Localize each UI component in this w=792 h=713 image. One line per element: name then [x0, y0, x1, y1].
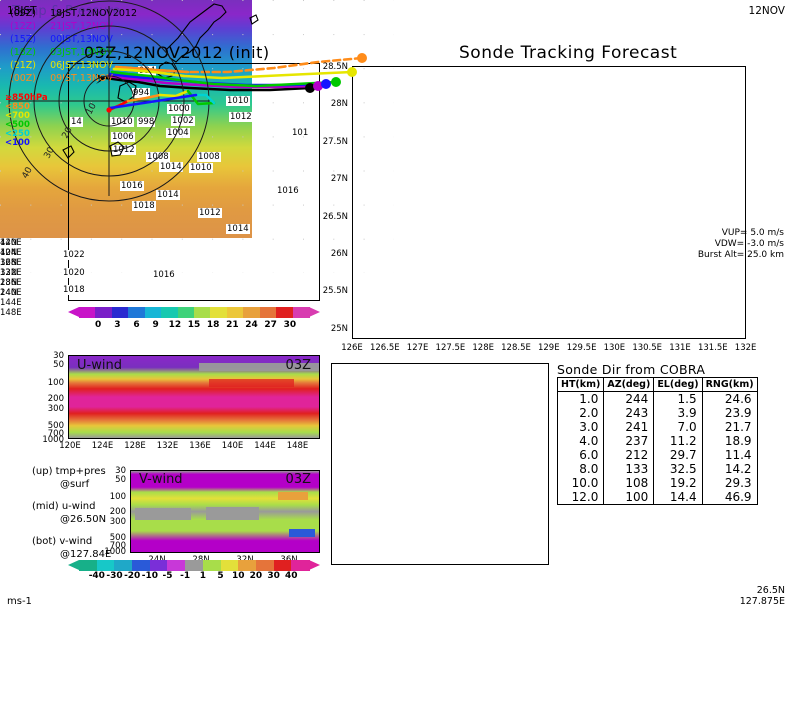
colorbar-tick: 30: [282, 320, 298, 330]
endpoint-00z: [357, 53, 367, 63]
hodo-lon: 127.875E: [740, 596, 785, 607]
colorbar-segment: [178, 307, 195, 318]
uwind-xtick: 120E: [59, 441, 81, 451]
colorbar-tick: 40: [283, 571, 299, 581]
table-row: 12.010014.446.9: [558, 490, 758, 505]
uwind-xtick: 144E: [254, 441, 276, 451]
tracking-ytick: 27N: [312, 174, 348, 184]
uwind-label: U-wind: [77, 358, 122, 373]
cell-rng: 11.4: [702, 448, 757, 462]
colorbar-segment: [276, 307, 293, 318]
cell-rng: 29.3: [702, 476, 757, 490]
colorbar-arrow-right: [309, 560, 320, 570]
xtick: 148E: [0, 308, 22, 318]
tracking-xtick: 131E: [669, 343, 691, 353]
col-az: AZ(deg): [604, 378, 654, 392]
cell-az: 237: [604, 434, 654, 448]
tracking-xtick: 126.5E: [370, 343, 400, 353]
note-bot-tag: (bot) v-wind: [32, 536, 92, 547]
cell-ht: 12.0: [558, 490, 604, 505]
colorbar-segment: [243, 307, 260, 318]
hodo-lat: 26.5N: [757, 585, 785, 596]
table-row: 4.023711.218.9: [558, 434, 758, 448]
xtick: 144E: [0, 298, 22, 308]
endpoint-21z: [347, 67, 357, 77]
cell-el: 7.0: [654, 420, 702, 434]
vwind-label: V-wind: [139, 472, 183, 487]
uwind-xtick: 132E: [157, 441, 179, 451]
colorbar-segment: [194, 307, 211, 318]
colorbar-segment: [260, 307, 277, 318]
hodo-time-label: 18JST: [7, 5, 37, 17]
cell-el: 29.7: [654, 448, 702, 462]
col-el: EL(deg): [654, 378, 702, 392]
colorbar-segment: [79, 307, 96, 318]
colorbar-tick: 27: [263, 320, 279, 330]
colorbar-segment: [221, 560, 239, 571]
cell-ht: 8.0: [558, 462, 604, 476]
tracking-frame: [352, 66, 746, 339]
tracking-ytick: 28.5N: [312, 62, 348, 72]
colorbar-segment: [97, 560, 115, 571]
tracking-ytick: 25.5N: [312, 286, 348, 296]
sonde-table: HT(km) AZ(deg) EL(deg) RNG(km) 1.02441.5…: [557, 377, 758, 505]
colorbar-tick: 1: [195, 571, 211, 581]
colorbar-tick: 12: [167, 320, 183, 330]
uwind-xtick: 136E: [189, 441, 211, 451]
uwind-ytick: 200: [36, 394, 64, 404]
table-row: 2.02433.923.9: [558, 406, 758, 420]
uwind-xtick: 140E: [222, 441, 244, 451]
colorbar-segment: [227, 307, 244, 318]
uwind-ytick: 50: [36, 360, 64, 370]
colorbar-segment: [293, 307, 310, 318]
note-up-sub: @surf: [60, 479, 89, 490]
note-burst-alt: Burst Alt= 25.0 km: [624, 250, 784, 260]
cell-ht: 6.0: [558, 448, 604, 462]
colorbar-segment: [210, 307, 227, 318]
cell-az: 133: [604, 462, 654, 476]
tracking-xtick: 131.5E: [698, 343, 728, 353]
colorbar-tick: 24: [244, 320, 260, 330]
colorbar-segment: [274, 560, 292, 571]
cell-el: 1.5: [654, 392, 702, 407]
cell-rng: 18.9: [702, 434, 757, 448]
hodograph-frame: [331, 363, 549, 565]
colorbar-segment: [185, 560, 203, 571]
table-header-row: HT(km) AZ(deg) EL(deg) RNG(km): [558, 378, 758, 392]
uwind-time: 03Z: [286, 358, 311, 373]
colorbar-segment: [145, 307, 162, 318]
colorbar-tick: 3: [109, 320, 125, 330]
tracking-xtick: 128.5E: [501, 343, 531, 353]
uwind-xtick: 148E: [287, 441, 309, 451]
tracking-ytick: 27.5N: [312, 137, 348, 147]
colorbar-segment: [167, 560, 185, 571]
colorbar-tick: 6: [129, 320, 145, 330]
cell-ht: 1.0: [558, 392, 604, 407]
cell-el: 19.2: [654, 476, 702, 490]
note-mid-sub: @26.50N: [60, 514, 106, 525]
colorbar-tick: -40: [89, 571, 105, 581]
cell-az: 108: [604, 476, 654, 490]
cell-rng: 23.9: [702, 406, 757, 420]
tracking-xtick: 132E: [735, 343, 757, 353]
cell-el: 32.5: [654, 462, 702, 476]
cell-ht: 2.0: [558, 406, 604, 420]
note-vup: VUP= 5.0 m/s: [624, 228, 784, 238]
colorbar-segment: [203, 560, 221, 571]
temperature-colorbar-ticks: 036912151821242730: [68, 320, 320, 332]
vwind-grey-patch-mid: [206, 507, 259, 520]
cell-rng: 24.6: [702, 392, 757, 407]
hodo-origin-dot: [106, 107, 111, 112]
table-row: 6.021229.711.4: [558, 448, 758, 462]
tracking-xtick: 127.5E: [436, 343, 466, 353]
vwind-time: 03Z: [286, 472, 311, 487]
tracking-xtick: 130E: [604, 343, 626, 353]
colorbar-segment: [79, 560, 97, 571]
table-row: 8.013332.514.2: [558, 462, 758, 476]
note-up-tag: (up) tmp+pres: [32, 466, 106, 477]
cell-az: 241: [604, 420, 654, 434]
colorbar-segment: [114, 560, 132, 571]
cell-rng: 46.9: [702, 490, 757, 505]
tracking-ytick: 28N: [312, 99, 348, 109]
wind-colorbar: [68, 560, 320, 571]
uwind-red-patch: [209, 379, 294, 387]
colorbar-segment: [291, 560, 309, 571]
colorbar-tick: 30: [266, 571, 282, 581]
hodo-units: ms-1: [7, 596, 32, 607]
colorbar-segment: [132, 560, 150, 571]
tracking-xtick: 128E: [472, 343, 494, 353]
colorbar-segment: [150, 560, 168, 571]
vwind-blue-patch: [289, 529, 315, 537]
isobar-label: 1018: [62, 285, 86, 295]
colorbar-tick: -10: [142, 571, 158, 581]
cell-ht: 10.0: [558, 476, 604, 490]
cell-ht: 4.0: [558, 434, 604, 448]
colorbar-tick: -5: [159, 571, 175, 581]
uwind-xtick: 128E: [124, 441, 146, 451]
colorbar-tick: 15: [186, 320, 202, 330]
colorbar-tick: 0: [90, 320, 106, 330]
colorbar-tick: 5: [213, 571, 229, 581]
cell-az: 244: [604, 392, 654, 407]
tracking-xtick: 126E: [341, 343, 363, 353]
colorbar-tick: 20: [248, 571, 264, 581]
cell-el: 11.2: [654, 434, 702, 448]
xtick: 136E: [0, 278, 22, 288]
tracking-xtick: 130.5E: [632, 343, 662, 353]
col-rng: RNG(km): [702, 378, 757, 392]
note-vdw: VDW= -3.0 m/s: [624, 239, 784, 249]
uwind-plot: U-wind 03Z: [69, 356, 319, 438]
cell-el: 14.4: [654, 490, 702, 505]
cell-az: 100: [604, 490, 654, 505]
cell-rng: 21.7: [702, 420, 757, 434]
xtick: 140E: [0, 288, 22, 298]
colorbar-segment: [112, 307, 129, 318]
colorbar-segment: [95, 307, 112, 318]
tracking-ytick: 25N: [312, 324, 348, 334]
table-row: 10.010819.229.3: [558, 476, 758, 490]
tracking-xtick: 127E: [407, 343, 429, 353]
table-row: 1.02441.524.6: [558, 392, 758, 407]
uwind-xtick: 124E: [92, 441, 114, 451]
tracking-xtick: 129E: [538, 343, 560, 353]
note-mid-tag: (mid) u-wind: [32, 501, 95, 512]
colorbar-segment: [128, 307, 145, 318]
tracking-ytick: 26N: [312, 249, 348, 259]
colorbar-tick: -20: [124, 571, 140, 581]
vwind-orange-patch: [278, 492, 308, 500]
sonde-table-title: Sonde Dir from COBRA: [557, 362, 705, 377]
colorbar-segment: [256, 560, 274, 571]
colorbar-tick: 10: [230, 571, 246, 581]
cell-ht: 3.0: [558, 420, 604, 434]
tracking-xtick: 129.5E: [567, 343, 597, 353]
vwind-grey-patch-left: [135, 508, 191, 519]
table-row: 3.02417.021.7: [558, 420, 758, 434]
plegend-100: <100: [5, 139, 30, 148]
temperature-colorbar: [68, 307, 320, 319]
colorbar-tick: -30: [106, 571, 122, 581]
colorbar-tick: 21: [224, 320, 240, 330]
colorbar-arrow-left: [68, 307, 79, 317]
colorbar-tick: 18: [205, 320, 221, 330]
hodo-date-label: 12NOV: [749, 5, 785, 17]
uwind-ytick: 100: [36, 378, 64, 388]
vwind-plot: V-wind 03Z: [131, 471, 319, 552]
vwind-ytick: 100: [98, 492, 126, 502]
tracking-title: Sonde Tracking Forecast: [459, 43, 677, 63]
colorbar-tick: 9: [148, 320, 164, 330]
note-bot-sub: @127.84E: [60, 549, 111, 560]
colorbar-arrow-left: [68, 560, 79, 570]
colorbar-tick: -1: [177, 571, 193, 581]
uwind-ytick: 300: [36, 404, 64, 414]
cell-az: 243: [604, 406, 654, 420]
cell-az: 212: [604, 448, 654, 462]
tracking-ytick: 26.5N: [312, 212, 348, 222]
col-ht: HT(km): [558, 378, 604, 392]
colorbar-segment: [238, 560, 256, 571]
hodo-seg-250: [196, 95, 214, 103]
cell-el: 3.9: [654, 406, 702, 420]
table-body: 1.02441.524.62.02433.923.93.02417.021.74…: [558, 392, 758, 505]
cell-rng: 14.2: [702, 462, 757, 476]
wind-colorbar-ticks: -40-30-20-10-5-11510203040: [68, 571, 320, 583]
colorbar-segment: [161, 307, 178, 318]
